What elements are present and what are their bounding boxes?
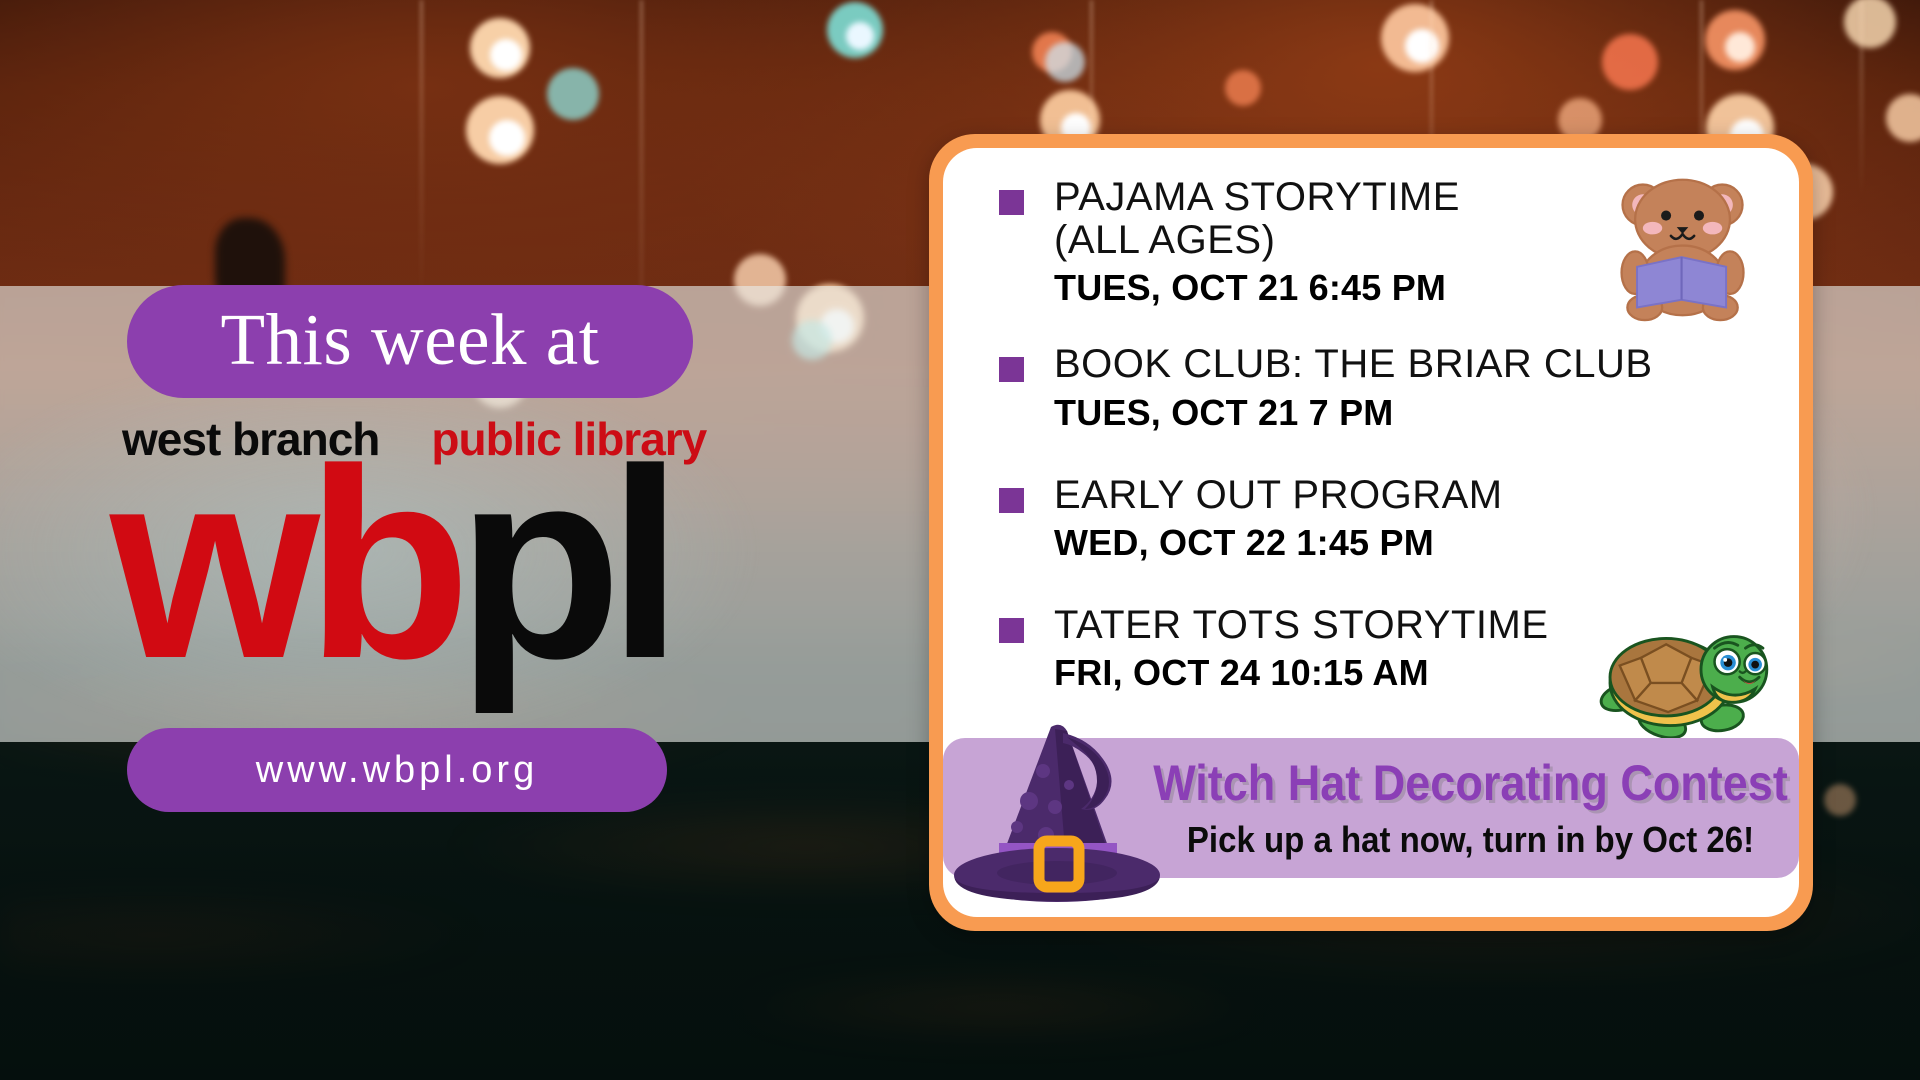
headline-pill: This week at [127, 285, 693, 398]
event-title: BOOK CLUB: THE BRIAR CLUB [1054, 343, 1653, 386]
event-datetime: TUES, OCT 21 7 PM [1054, 392, 1653, 434]
wbpl-logo: west branchpublic library wbpl [110, 412, 790, 702]
website-url: www.wbpl.org [256, 749, 538, 792]
promo-title: Witch Hat Decorating Contest [1153, 754, 1788, 812]
event-item[interactable]: EARLY OUT PROGRAMWED, OCT 22 1:45 PM [999, 474, 1779, 564]
bullet-square-icon [999, 488, 1024, 513]
event-item[interactable]: BOOK CLUB: THE BRIAR CLUBTUES, OCT 21 7 … [999, 343, 1779, 433]
event-datetime: TUES, OCT 21 6:45 PM [1054, 267, 1460, 309]
page-title: This week at [221, 303, 600, 376]
turtle-icon [1598, 623, 1773, 743]
event-text: EARLY OUT PROGRAMWED, OCT 22 1:45 PM [1054, 474, 1503, 564]
event-title: TATER TOTS STORYTIME [1054, 604, 1549, 647]
logo-wordmark-black: pl [457, 414, 669, 715]
bullet-square-icon [999, 357, 1024, 382]
website-pill[interactable]: www.wbpl.org [127, 728, 667, 812]
event-text: TATER TOTS STORYTIMEFRI, OCT 24 10:15 AM [1054, 604, 1549, 694]
events-card: PAJAMA STORYTIME (ALL AGES)TUES, OCT 21 … [929, 134, 1813, 931]
events-card-inner: PAJAMA STORYTIME (ALL AGES)TUES, OCT 21 … [943, 148, 1799, 917]
logo-wordmark-red: wb [110, 414, 457, 715]
event-title: PAJAMA STORYTIME (ALL AGES) [1054, 176, 1460, 262]
promo-text-block: Witch Hat Decorating Contest Pick up a h… [1158, 738, 1783, 878]
logo-wordmark: wbpl [110, 430, 669, 700]
event-text: PAJAMA STORYTIME (ALL AGES)TUES, OCT 21 … [1054, 176, 1460, 309]
event-datetime: WED, OCT 22 1:45 PM [1054, 522, 1503, 564]
promo-subtitle: Pick up a hat now, turn in by Oct 26! [1187, 819, 1754, 861]
event-text: BOOK CLUB: THE BRIAR CLUBTUES, OCT 21 7 … [1054, 343, 1653, 433]
bullet-square-icon [999, 190, 1024, 215]
witch-hat-icon [951, 715, 1166, 905]
event-datetime: FRI, OCT 24 10:15 AM [1054, 652, 1549, 694]
branding-column: This week at west branchpublic library w… [0, 0, 920, 1080]
event-title: EARLY OUT PROGRAM [1054, 474, 1503, 517]
bullet-square-icon [999, 618, 1024, 643]
teddy-bear-reading-icon [1606, 172, 1761, 322]
